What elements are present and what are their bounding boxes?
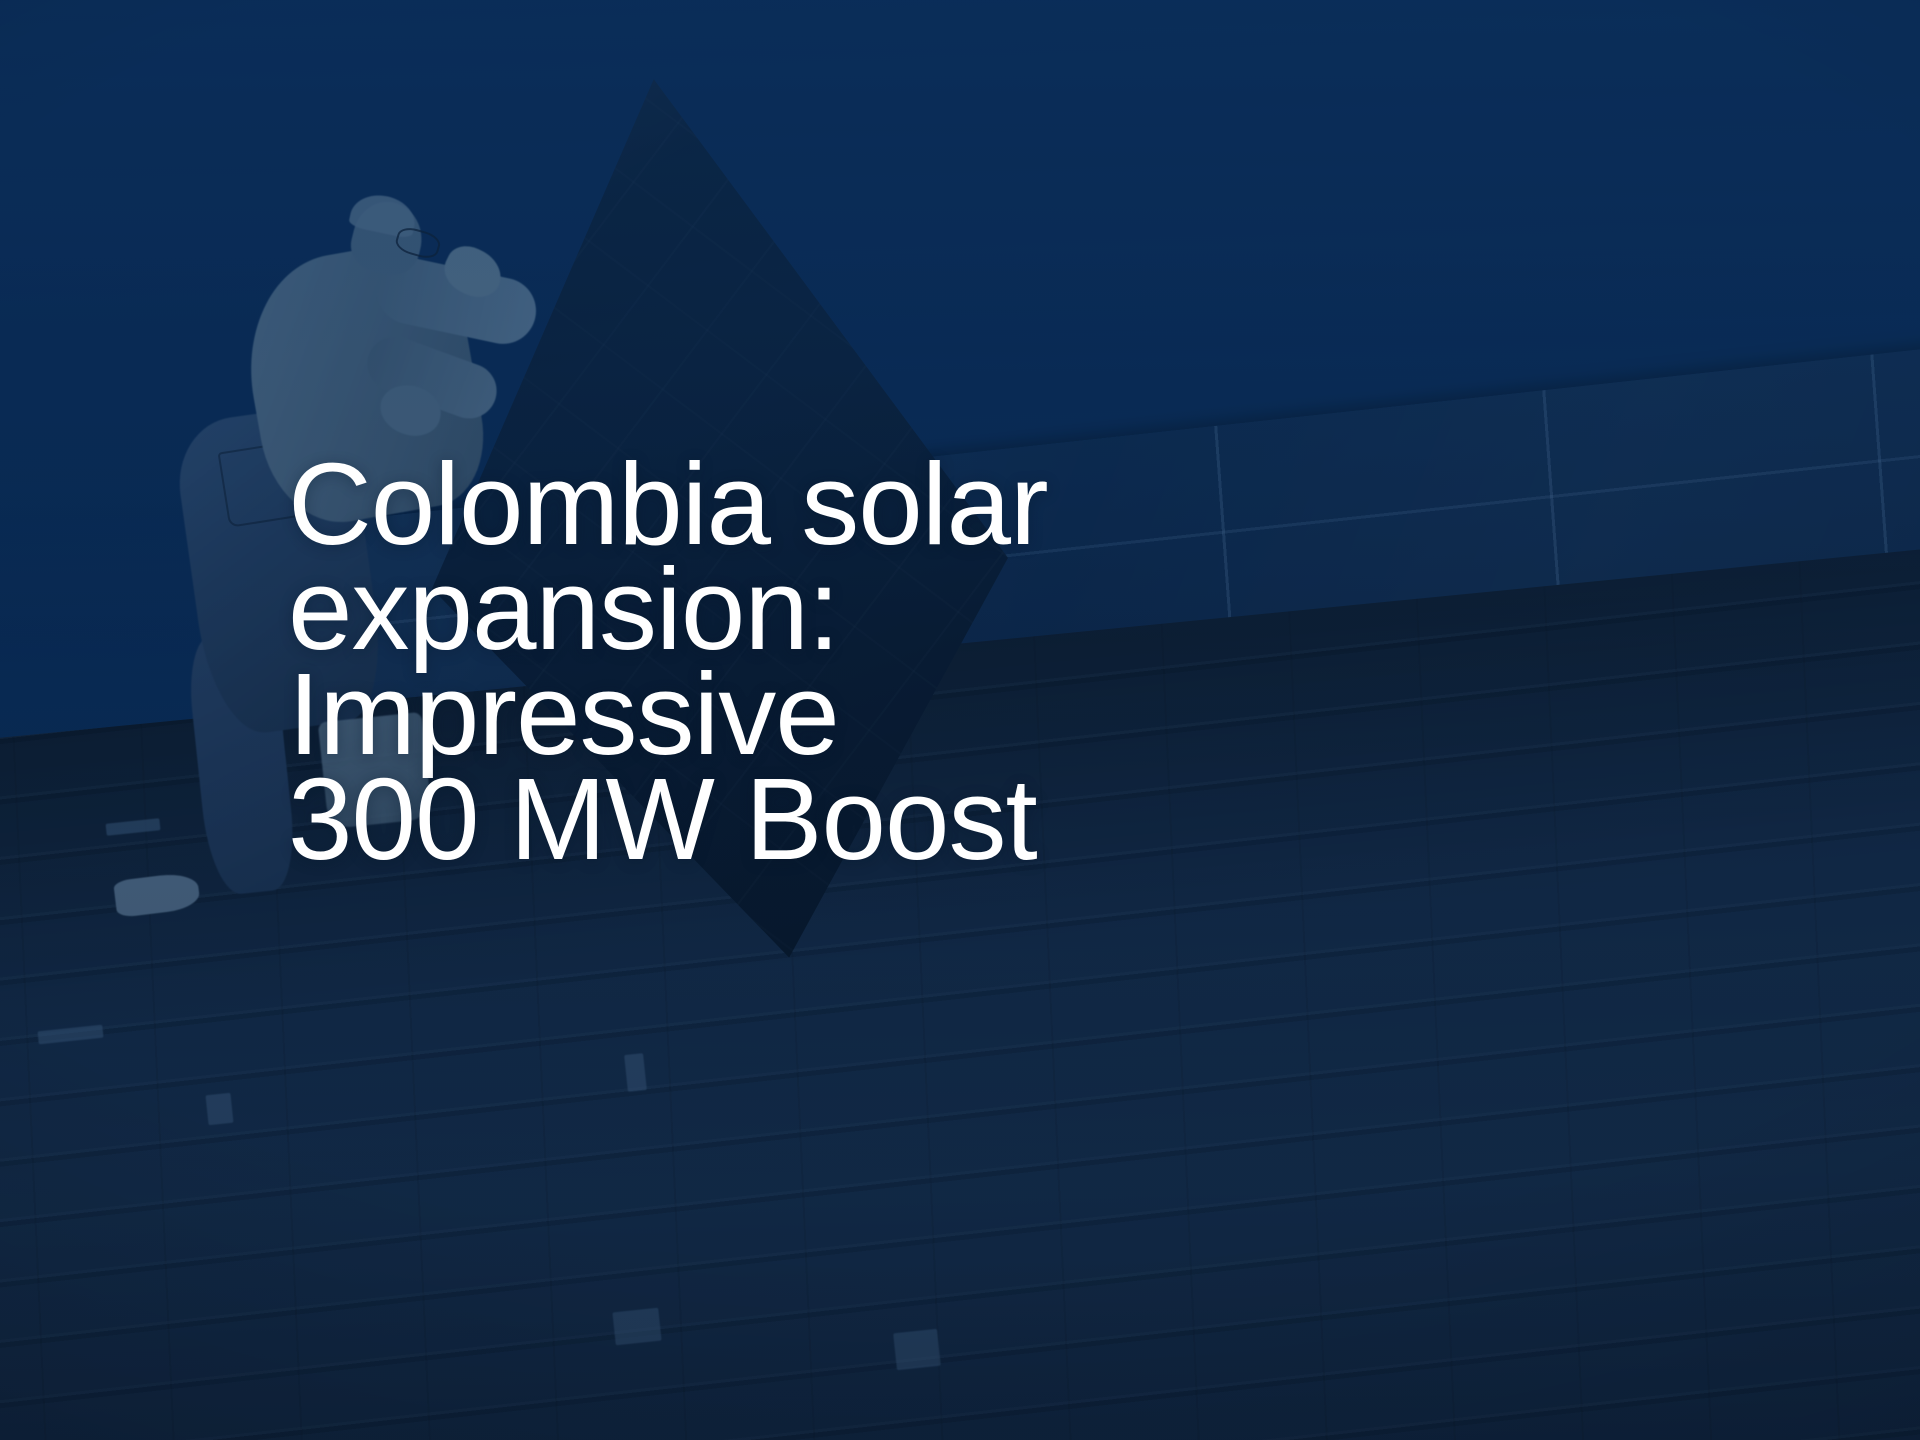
hero-banner: Colombia solar expansion: Impressive 300… xyxy=(0,0,1920,1440)
page-title: Colombia solar expansion: Impressive 300… xyxy=(288,452,1308,872)
